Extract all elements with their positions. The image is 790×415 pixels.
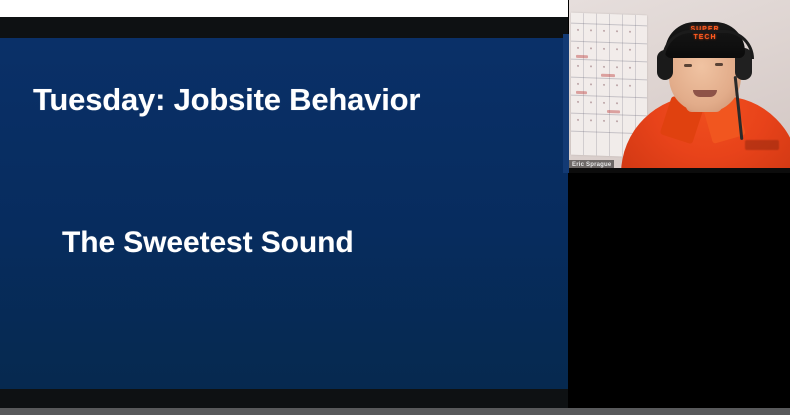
slide-title: Tuesday: Jobsite Behavior [33,82,420,118]
shirt-chest-logo [745,140,779,150]
person-eye-right [715,63,723,66]
bottom-black-letterbox [0,389,568,408]
webcam-tile[interactable]: SUPER TECH Eric Sprague [569,0,790,173]
slide-subtitle: The Sweetest Sound [62,226,354,260]
top-black-letterbox [0,17,568,38]
recording-stage: Tuesday: Jobsite Behavior The Sweetest S… [0,0,790,415]
webcam-bottom-edge [569,168,790,173]
top-white-letterbox [0,0,568,17]
headset-headband [662,30,754,59]
player-base-strip [0,408,790,415]
person-mouth [693,90,717,97]
presentation-slide: Tuesday: Jobsite Behavior The Sweetest S… [0,38,568,389]
person-eye-left [684,64,692,67]
webcam-person: SUPER TECH [569,0,790,173]
